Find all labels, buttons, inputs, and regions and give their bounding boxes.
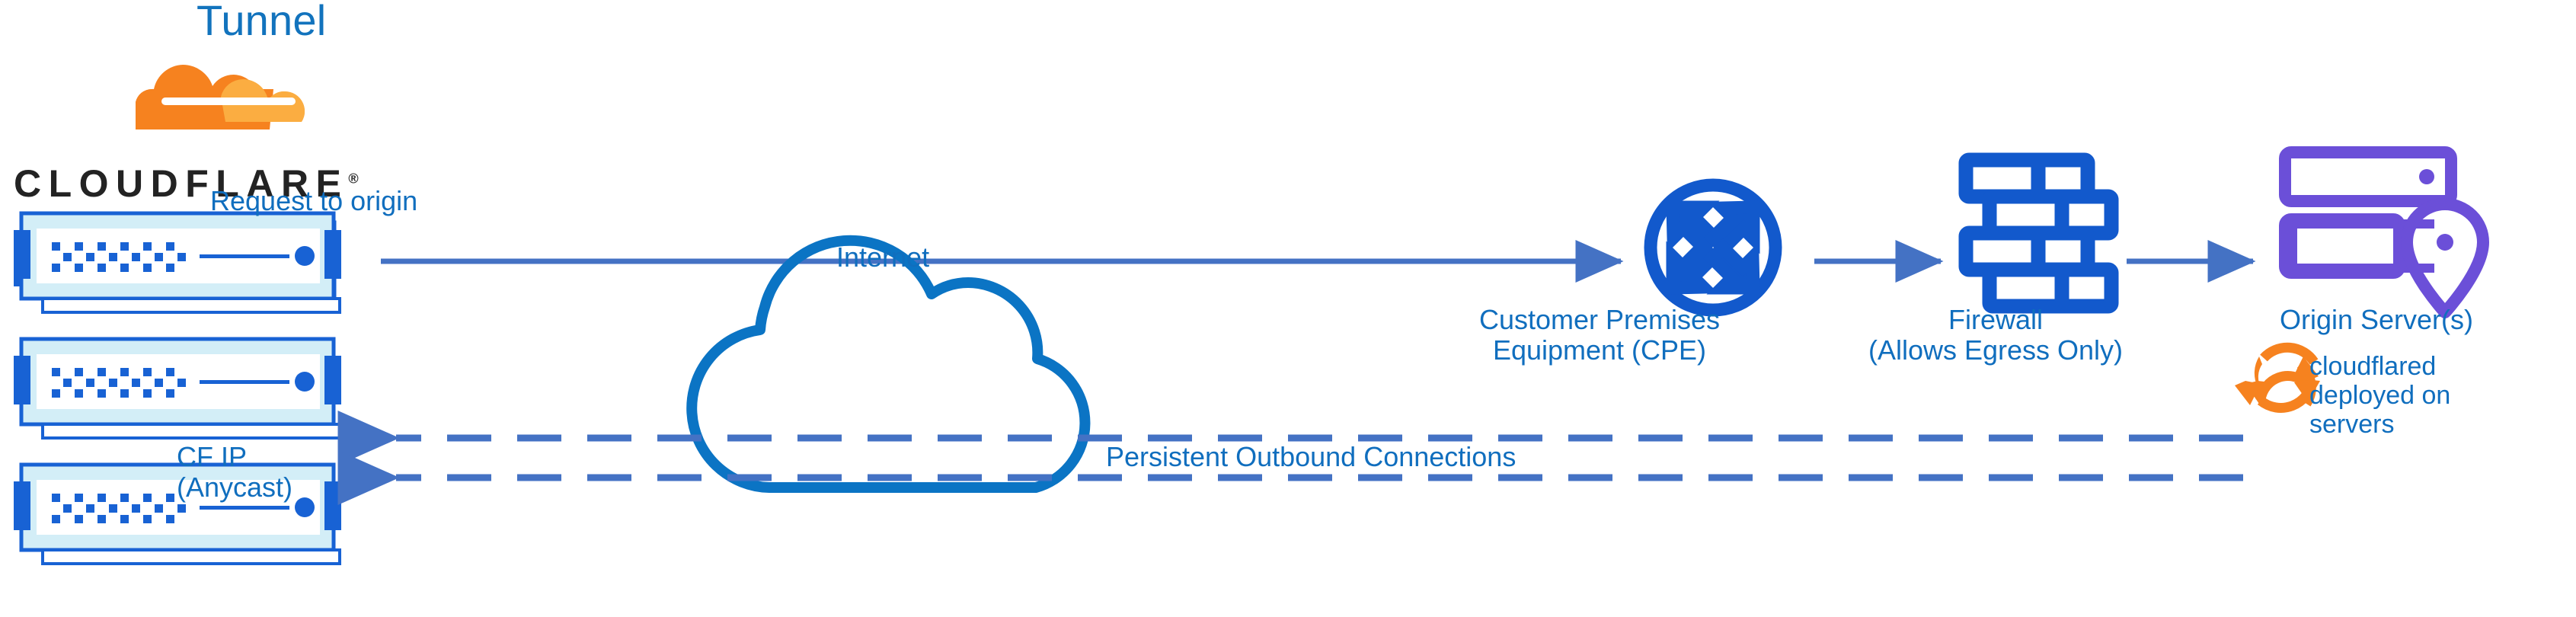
brick-wall-icon: [1966, 160, 2111, 306]
server-rack-icon: [14, 339, 341, 438]
server-rack-icon: [14, 213, 341, 312]
origin-server-icon: [2285, 152, 2483, 312]
diagram-vector-layer: [0, 0, 2576, 617]
node-label-cloudflared: cloudflared deployed on servers: [2309, 352, 2492, 439]
diagram-canvas: Tunnel: [0, 0, 2576, 617]
node-label-cf-ip: CF IP (Anycast): [177, 442, 292, 504]
node-label-cpe: Customer Premises Equipment (CPE): [1440, 305, 1759, 366]
cloud-icon: [692, 241, 1085, 488]
cloudflare-cloud-icon: [136, 65, 305, 129]
registered-trademark-icon: ®: [348, 171, 358, 186]
server-rack-group: [14, 213, 341, 564]
node-label-origin-server: Origin Server(s): [2209, 305, 2544, 335]
connector-label-request: Request to origin: [210, 186, 417, 216]
connector-label-persistent: Persistent Outbound Connections: [1106, 442, 1516, 472]
sync-refresh-icon: [2235, 347, 2320, 408]
router-arrows-icon: [1651, 185, 1775, 310]
node-label-internet: Internet: [836, 242, 929, 273]
node-label-firewall: Firewall (Allows Egress Only): [1828, 305, 2163, 366]
